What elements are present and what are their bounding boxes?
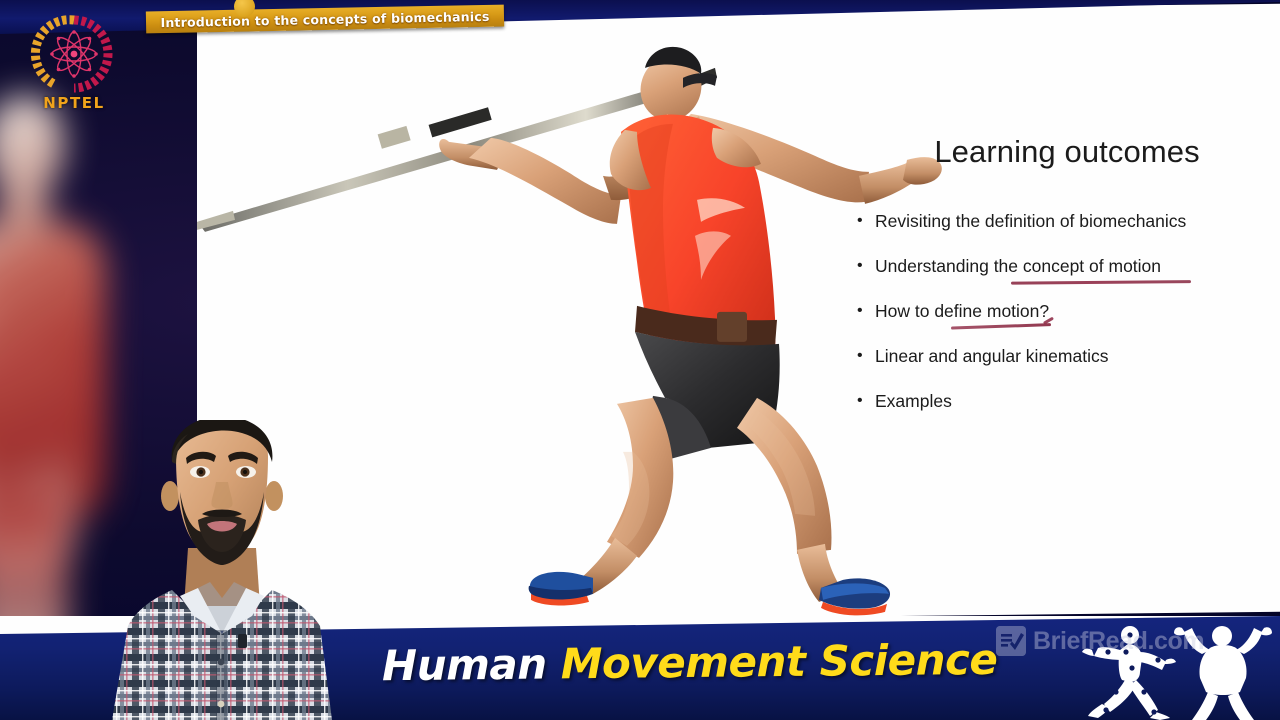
annotation-underline <box>951 323 1051 329</box>
course-title-part-one: Human <box>382 640 547 691</box>
bullet-marker: • <box>857 210 875 232</box>
bullet-marker: • <box>857 345 875 367</box>
course-title: Human Movement Science <box>382 635 998 690</box>
nptel-logo: NPTEL <box>22 14 126 114</box>
annotation-underline <box>1011 280 1191 285</box>
nptel-atom-icon <box>22 14 126 96</box>
list-item: • Revisiting the definition of biomechan… <box>857 210 1277 232</box>
list-item-label: Linear and angular kinematics <box>875 345 1108 367</box>
learning-outcomes-block: Learning outcomes • Revisiting the defin… <box>857 134 1277 435</box>
watermark-text: BriefRead.com <box>1033 627 1204 656</box>
presentation-slide: Learning outcomes • Revisiting the defin… <box>197 4 1280 624</box>
presenter-overlay <box>106 420 338 720</box>
slide-title-text: Introduction to the concepts of biomecha… <box>160 8 489 29</box>
list-item: • Linear and angular kinematics <box>857 345 1277 367</box>
list-item-label: How to define motion? <box>875 300 1049 322</box>
page-title: Learning outcomes <box>857 134 1277 170</box>
list-item-label: Understanding the concept of motion <box>875 255 1161 277</box>
bullet-marker: • <box>857 255 875 277</box>
list-item-label: Examples <box>875 390 952 412</box>
lecture-video-frame: Learning outcomes • Revisiting the defin… <box>0 0 1280 720</box>
list-item: • How to define motion? <box>857 300 1277 322</box>
list-item: • Examples <box>857 390 1277 412</box>
briefread-watermark: BriefRead.com <box>996 626 1204 656</box>
list-item: • Understanding the concept of motion <box>857 255 1277 277</box>
clipboard-check-icon <box>996 626 1026 656</box>
list-item-label: Revisiting the definition of biomechanic… <box>875 210 1186 232</box>
course-title-part-two: Movement Science <box>560 635 997 689</box>
bullet-marker: • <box>857 390 875 412</box>
nptel-logo-text: NPTEL <box>22 94 126 112</box>
bullet-marker: • <box>857 300 875 322</box>
